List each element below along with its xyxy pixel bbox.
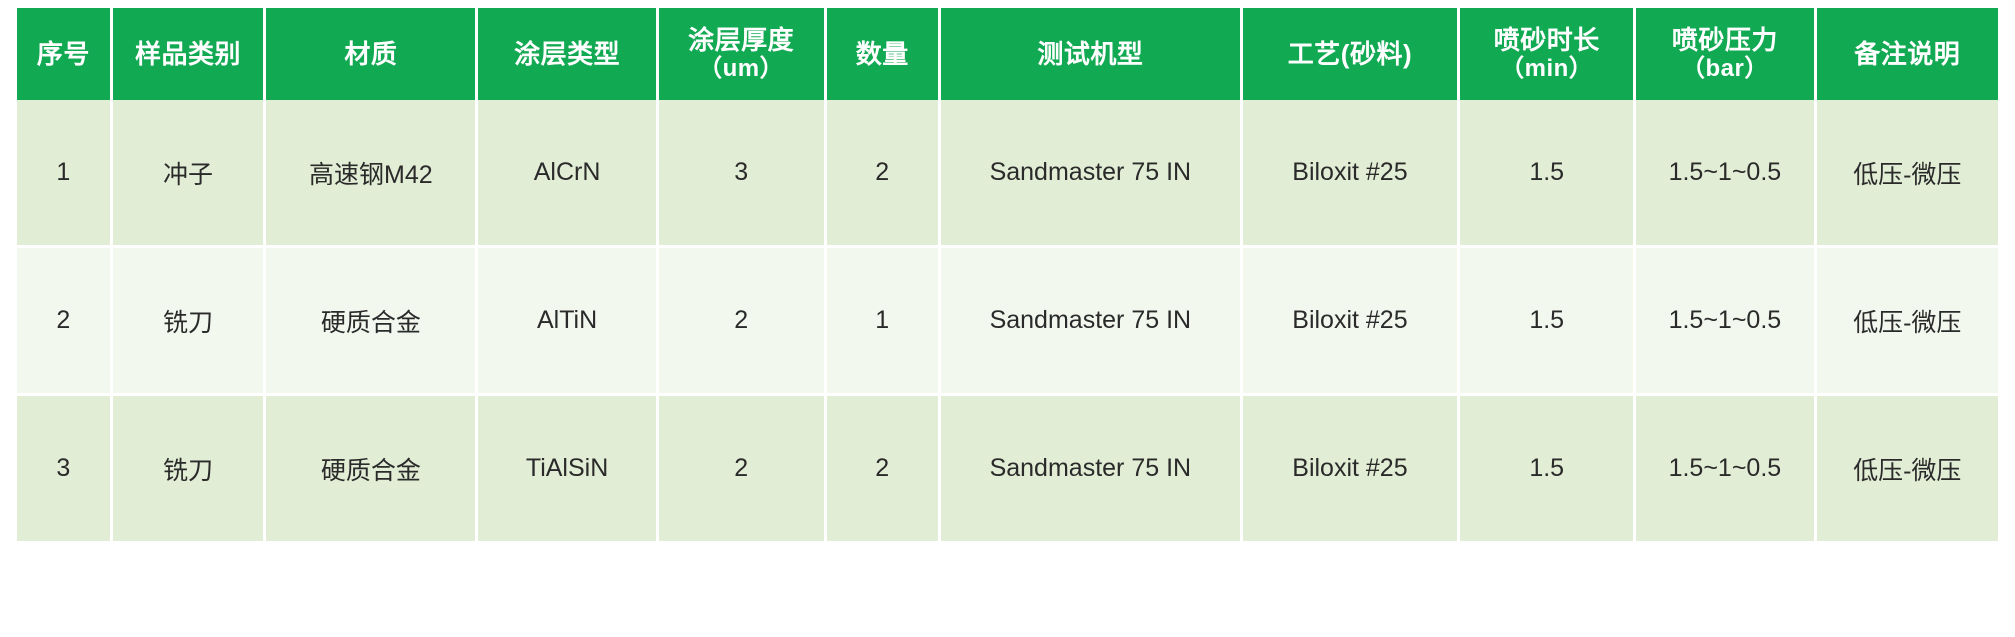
cell-process-media: Biloxit #25 — [1243, 100, 1457, 248]
cell-material: 硬质合金 — [266, 396, 475, 544]
table-row[interactable]: 2 铣刀 硬质合金 AlTiN 2 1 Sandmaster 75 IN Bil… — [17, 248, 1998, 396]
column-header-blast-pressure-label: 喷砂压力 — [1672, 25, 1778, 55]
cell-blast-time: 1.5 — [1460, 248, 1633, 396]
cell-seq: 3 — [17, 396, 110, 544]
cell-coating-type: AlTiN — [478, 248, 655, 396]
column-header-sample-type[interactable]: 样品类别 — [113, 8, 263, 100]
cell-seq: 1 — [17, 100, 110, 248]
column-header-material-label: 材质 — [344, 39, 397, 69]
cell-process-media: Biloxit #25 — [1243, 396, 1457, 544]
cell-coating-type: AlCrN — [478, 100, 655, 248]
column-header-coating-thickness-label: 涂层厚度 — [688, 25, 794, 55]
column-header-blast-time-unit: （min） — [1462, 55, 1631, 83]
table-row[interactable]: 1 冲子 高速钢M42 AlCrN 3 2 Sandmaster 75 IN B… — [17, 100, 1998, 248]
cell-test-machine: Sandmaster 75 IN — [941, 248, 1240, 396]
cell-blast-time: 1.5 — [1460, 396, 1633, 544]
table-body: 1 冲子 高速钢M42 AlCrN 3 2 Sandmaster 75 IN B… — [17, 100, 1998, 544]
blasting-spec-table: 序号 样品类别 材质 涂层类型 涂层厚度 （um） 数量 — [14, 8, 2001, 544]
cell-quantity: 1 — [827, 248, 938, 396]
cell-material: 硬质合金 — [266, 248, 475, 396]
column-header-coating-thickness-unit: （um） — [661, 55, 822, 83]
column-header-remark-label: 备注说明 — [1854, 39, 1960, 69]
cell-remark: 低压-微压 — [1817, 100, 1998, 248]
column-header-quantity[interactable]: 数量 — [827, 8, 938, 100]
column-header-blast-pressure[interactable]: 喷砂压力 （bar） — [1636, 8, 1813, 100]
spec-table-container: 序号 样品类别 材质 涂层类型 涂层厚度 （um） 数量 — [14, 8, 2001, 544]
column-header-blast-time[interactable]: 喷砂时长 （min） — [1460, 8, 1633, 100]
cell-quantity: 2 — [827, 100, 938, 248]
column-header-process-media[interactable]: 工艺(砂料) — [1243, 8, 1457, 100]
column-header-seq-label: 序号 — [37, 39, 90, 69]
cell-coating-thickness: 2 — [659, 248, 824, 396]
column-header-sample-type-label: 样品类别 — [135, 39, 241, 69]
column-header-seq[interactable]: 序号 — [17, 8, 110, 100]
column-header-remark[interactable]: 备注说明 — [1817, 8, 1998, 100]
cell-quantity: 2 — [827, 396, 938, 544]
cell-coating-thickness: 3 — [659, 100, 824, 248]
column-header-process-media-label: 工艺(砂料) — [1288, 39, 1412, 69]
column-header-blast-pressure-unit: （bar） — [1638, 55, 1811, 83]
cell-remark: 低压-微压 — [1817, 248, 1998, 396]
cell-test-machine: Sandmaster 75 IN — [941, 100, 1240, 248]
cell-seq: 2 — [17, 248, 110, 396]
cell-blast-pressure: 1.5~1~0.5 — [1636, 248, 1813, 396]
column-header-coating-type-label: 涂层类型 — [514, 39, 620, 69]
cell-blast-pressure: 1.5~1~0.5 — [1636, 100, 1813, 248]
table-header: 序号 样品类别 材质 涂层类型 涂层厚度 （um） 数量 — [17, 8, 1998, 100]
cell-remark: 低压-微压 — [1817, 396, 1998, 544]
column-header-quantity-label: 数量 — [856, 39, 909, 69]
table-header-row: 序号 样品类别 材质 涂层类型 涂层厚度 （um） 数量 — [17, 8, 1998, 100]
cell-blast-time: 1.5 — [1460, 100, 1633, 248]
cell-process-media: Biloxit #25 — [1243, 248, 1457, 396]
column-header-coating-type[interactable]: 涂层类型 — [478, 8, 655, 100]
cell-test-machine: Sandmaster 75 IN — [941, 396, 1240, 544]
column-header-material[interactable]: 材质 — [266, 8, 475, 100]
cell-sample-type: 铣刀 — [113, 248, 263, 396]
cell-material: 高速钢M42 — [266, 100, 475, 248]
column-header-coating-thickness[interactable]: 涂层厚度 （um） — [659, 8, 824, 100]
cell-sample-type: 冲子 — [113, 100, 263, 248]
cell-coating-type: TiAlSiN — [478, 396, 655, 544]
column-header-test-machine-label: 测试机型 — [1037, 39, 1143, 69]
table-row[interactable]: 3 铣刀 硬质合金 TiAlSiN 2 2 Sandmaster 75 IN B… — [17, 396, 1998, 544]
column-header-test-machine[interactable]: 测试机型 — [941, 8, 1240, 100]
cell-sample-type: 铣刀 — [113, 396, 263, 544]
cell-coating-thickness: 2 — [659, 396, 824, 544]
column-header-blast-time-label: 喷砂时长 — [1494, 25, 1600, 55]
cell-blast-pressure: 1.5~1~0.5 — [1636, 396, 1813, 544]
